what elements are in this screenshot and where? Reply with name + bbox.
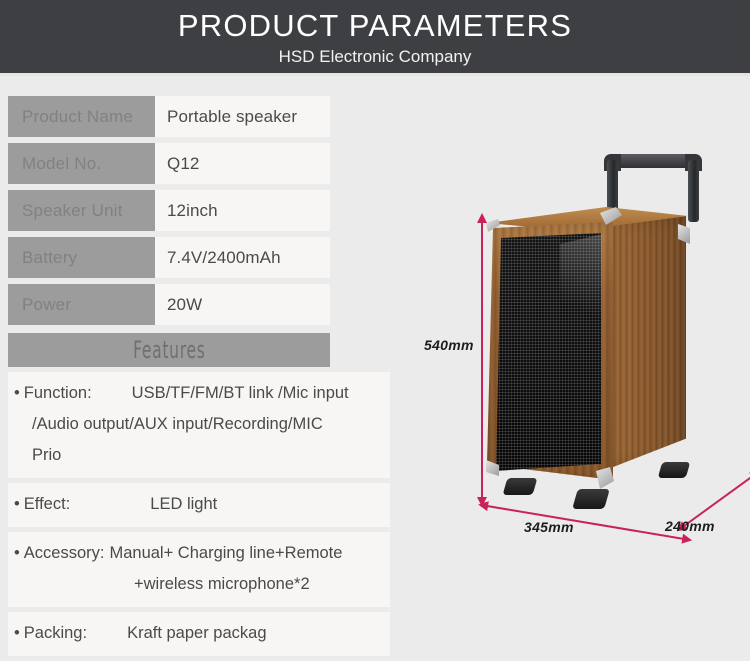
depth-dimension-label: 240mm [665, 518, 715, 534]
bullet-icon: • [14, 544, 20, 562]
spec-value-battery: 7.4V/2400mAh [155, 237, 330, 278]
rubber-foot-front-left [503, 478, 538, 495]
feature-text-function-line1: USB/TF/FM/BT link /Mic input [132, 384, 349, 402]
feature-key-packing: Packing: [24, 618, 87, 649]
bullet-icon: • [14, 624, 20, 642]
feature-key-effect: Effect: [24, 489, 70, 520]
handle-tube-right [688, 160, 699, 222]
list-item: •Effect:LED light [8, 483, 390, 527]
rubber-foot-rear [658, 462, 691, 478]
bullet-icon: • [14, 495, 20, 513]
spec-value-power: 20W [155, 284, 330, 325]
bullet-icon: • [14, 384, 20, 402]
spec-label-battery: Battery [8, 237, 155, 278]
feature-key-accessory: Accessory: [24, 538, 105, 569]
height-dimension-label: 540mm [424, 337, 474, 353]
spec-label-product-name: Product Name [8, 96, 155, 137]
table-row: Battery 7.4V/2400mAh [8, 237, 330, 278]
list-item: •Function:USB/TF/FM/BT link /Mic input /… [8, 372, 390, 478]
page-header: PRODUCT PARAMETERS HSD Electronic Compan… [0, 0, 750, 73]
specifications-panel: Product Name Portable speaker Model No. … [0, 76, 400, 600]
features-banner: Features [8, 333, 330, 367]
list-item: •Accessory:Manual+ Charging line+Remote … [8, 532, 390, 607]
spec-label-power: Power [8, 284, 155, 325]
company-subtitle: HSD Electronic Company [279, 48, 472, 65]
features-list: •Function:USB/TF/FM/BT link /Mic input /… [8, 372, 390, 661]
list-item: •Packing:Kraft paper packag [8, 612, 390, 656]
spec-table: Product Name Portable speaker Model No. … [8, 96, 330, 331]
feature-text-accessory-line2: +wireless microphone*2 [14, 569, 384, 600]
table-row: Speaker Unit 12inch [8, 190, 330, 231]
features-banner-title: Features [133, 338, 205, 362]
feature-text-packing: Kraft paper packag [127, 624, 266, 642]
spec-value-product-name: Portable speaker [155, 96, 330, 137]
spec-value-model-no: Q12 [155, 143, 330, 184]
rubber-foot-front-right [572, 489, 610, 509]
feature-text-effect: LED light [150, 495, 217, 513]
feature-text-function-line2: /Audio output/AUX input/Recording/MIC [14, 409, 384, 440]
table-row: Power 20W [8, 284, 330, 325]
width-dimension-label: 345mm [524, 519, 574, 535]
feature-text-function-line3: Prio [14, 440, 384, 471]
cabinet-side-wood-panel [608, 216, 686, 469]
table-row: Product Name Portable speaker [8, 96, 330, 137]
feature-text-accessory-line1: Manual+ Charging line+Remote [109, 544, 342, 562]
spec-value-speaker-unit: 12inch [155, 190, 330, 231]
spec-label-speaker-unit: Speaker Unit [8, 190, 155, 231]
height-dimension-arrow [481, 222, 483, 498]
spec-label-model-no: Model No. [8, 143, 155, 184]
feature-key-function: Function: [24, 378, 92, 409]
page-title: PRODUCT PARAMETERS [178, 10, 572, 41]
grille-highlight [560, 234, 602, 334]
table-row: Model No. Q12 [8, 143, 330, 184]
